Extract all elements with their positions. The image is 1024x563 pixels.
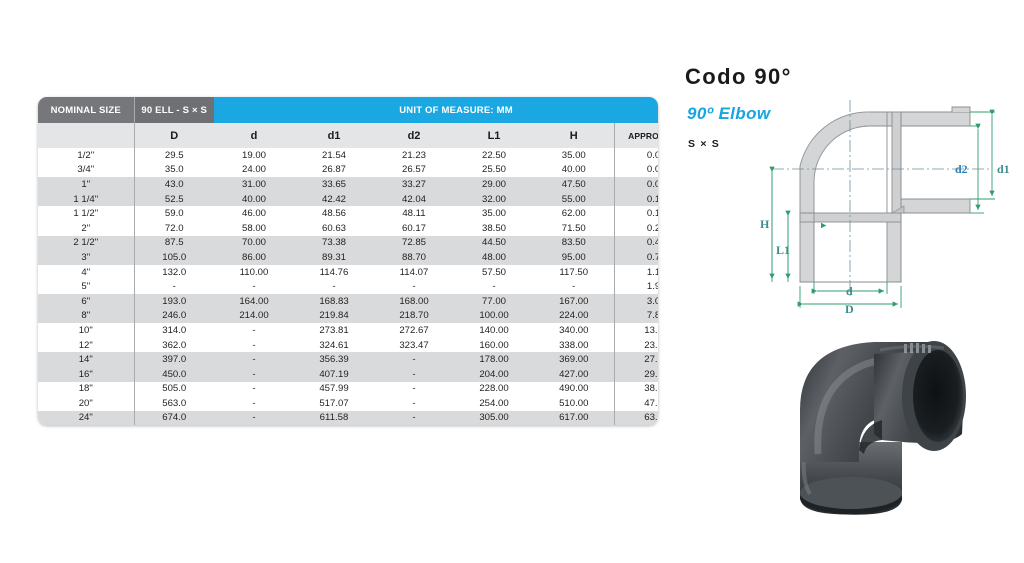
- cell-d2: 21.23: [374, 148, 454, 163]
- cell-wt: 27.00: [614, 352, 658, 367]
- cell-L1: 77.00: [454, 294, 534, 309]
- cell-d2: 272.67: [374, 323, 454, 338]
- cell-wt: 23.00: [614, 338, 658, 353]
- cell-size: 5": [38, 279, 134, 294]
- cell-d: 31.00: [214, 177, 294, 192]
- cell-d: 24.00: [214, 163, 294, 178]
- column-header-L1: L1: [454, 123, 534, 148]
- elbow-body: [800, 96, 970, 282]
- photo-bottom-face: [800, 477, 902, 509]
- column-header-H: H: [534, 123, 614, 148]
- cell-d2: 323.47: [374, 338, 454, 353]
- cell-d2: 48.11: [374, 206, 454, 221]
- cell-d1: 517.07: [294, 396, 374, 411]
- table-row: 14"397.0-356.39-178.00369.0027.00: [38, 352, 658, 367]
- cell-D: 674.0: [134, 411, 214, 426]
- table-row: 16"450.0-407.19-204.00427.0029.00: [38, 367, 658, 382]
- cell-D: 314.0: [134, 323, 214, 338]
- table-row: 20"563.0-517.07-254.00510.0047.00: [38, 396, 658, 411]
- spec-table: NOMINAL SIZE 90 ELL - S × S UNIT OF MEAS…: [38, 97, 658, 425]
- column-header-D: D: [134, 123, 214, 148]
- cell-D: 505.0: [134, 382, 214, 397]
- cell-H: 224.00: [534, 309, 614, 324]
- cell-d2: 33.27: [374, 177, 454, 192]
- cell-size: 1 1/4": [38, 192, 134, 207]
- cell-d2: -: [374, 382, 454, 397]
- cell-H: -: [534, 279, 614, 294]
- cell-H: 35.00: [534, 148, 614, 163]
- cell-d2: -: [374, 411, 454, 426]
- cell-wt: 0.70: [614, 250, 658, 265]
- page-title-spanish: Codo 90°: [685, 64, 792, 90]
- cell-d2: 218.70: [374, 309, 454, 324]
- dimension-label-L1: L1: [776, 243, 790, 257]
- cell-d2: 114.07: [374, 265, 454, 280]
- table-header-band: NOMINAL SIZE 90 ELL - S × S UNIT OF MEAS…: [38, 97, 658, 123]
- cell-size: 6": [38, 294, 134, 309]
- cell-H: 510.00: [534, 396, 614, 411]
- cell-d2: -: [374, 279, 454, 294]
- table-row: 1/2"29.519.0021.5421.2322.5035.000.03: [38, 148, 658, 163]
- table-row: 18"505.0-457.99-228.00490.0038.00: [38, 382, 658, 397]
- cell-H: 490.00: [534, 382, 614, 397]
- cell-D: 563.0: [134, 396, 214, 411]
- cell-d2: -: [374, 367, 454, 382]
- dimension-label-d1: d1: [997, 162, 1010, 176]
- cell-d: 58.00: [214, 221, 294, 236]
- cell-L1: 57.50: [454, 265, 534, 280]
- cell-D: 362.0: [134, 338, 214, 353]
- cell-D: 29.5: [134, 148, 214, 163]
- cell-wt: 29.00: [614, 367, 658, 382]
- cell-size: 14": [38, 352, 134, 367]
- column-header-blank: [38, 123, 134, 148]
- table-row: 5"------1.94: [38, 279, 658, 294]
- technical-drawing: H L1 d D d1 d2: [752, 96, 1014, 324]
- cell-D: 87.5: [134, 236, 214, 251]
- cell-d: 110.00: [214, 265, 294, 280]
- cell-size: 20": [38, 396, 134, 411]
- cell-size: 1": [38, 177, 134, 192]
- cell-H: 369.00: [534, 352, 614, 367]
- cell-wt: 3.03: [614, 294, 658, 309]
- cell-d: -: [214, 279, 294, 294]
- cell-D: 72.0: [134, 221, 214, 236]
- table-column-headers: D d d1 d2 L1 H APPROX. WT.: [38, 123, 658, 148]
- cell-size: 4": [38, 265, 134, 280]
- table-row: 4"132.0110.00114.76114.0757.50117.501.17: [38, 265, 658, 280]
- cell-L1: 25.50: [454, 163, 534, 178]
- cell-d: 86.00: [214, 250, 294, 265]
- cell-d: 214.00: [214, 309, 294, 324]
- cell-d2: 42.04: [374, 192, 454, 207]
- cell-size: 18": [38, 382, 134, 397]
- cell-L1: 178.00: [454, 352, 534, 367]
- header-nominal-size: NOMINAL SIZE: [38, 97, 134, 123]
- cell-d1: 356.39: [294, 352, 374, 367]
- cell-D: 450.0: [134, 367, 214, 382]
- cell-wt: 0.05: [614, 163, 658, 178]
- cell-size: 3/4": [38, 163, 134, 178]
- cell-d: -: [214, 338, 294, 353]
- cell-D: 246.0: [134, 309, 214, 324]
- cell-L1: 29.00: [454, 177, 534, 192]
- specification-table: NOMINAL SIZE 90 ELL - S × S UNIT OF MEAS…: [38, 97, 658, 425]
- cell-wt: 0.03: [614, 148, 658, 163]
- cell-d: -: [214, 411, 294, 426]
- cell-d: -: [214, 367, 294, 382]
- cell-d1: 21.54: [294, 148, 374, 163]
- cell-size: 16": [38, 367, 134, 382]
- cell-d1: 26.87: [294, 163, 374, 178]
- cell-d1: 324.61: [294, 338, 374, 353]
- cell-H: 95.00: [534, 250, 614, 265]
- cell-D: -: [134, 279, 214, 294]
- cell-H: 55.00: [534, 192, 614, 207]
- cell-D: 193.0: [134, 294, 214, 309]
- cell-L1: 100.00: [454, 309, 534, 324]
- cell-size: 3": [38, 250, 134, 265]
- cell-d: -: [214, 352, 294, 367]
- column-header-d2: d2: [374, 123, 454, 148]
- cell-wt: 0.45: [614, 236, 658, 251]
- column-header-d1: d1: [294, 123, 374, 148]
- cell-H: 617.00: [534, 411, 614, 426]
- cell-wt: 0.13: [614, 192, 658, 207]
- table-row: 2"72.058.0060.6360.1738.5071.500.26: [38, 221, 658, 236]
- table-row: 12"362.0-324.61323.47160.00338.0023.00: [38, 338, 658, 353]
- cell-H: 167.00: [534, 294, 614, 309]
- cell-D: 35.0: [134, 163, 214, 178]
- cell-d: 70.00: [214, 236, 294, 251]
- cell-L1: -: [454, 279, 534, 294]
- table-row: 1 1/2"59.046.0048.5648.1135.0062.000.17: [38, 206, 658, 221]
- dimension-label-H: H: [760, 217, 770, 231]
- cell-wt: 0.08: [614, 177, 658, 192]
- dimension-label-d2: d2: [955, 162, 968, 176]
- cell-d1: 89.31: [294, 250, 374, 265]
- cell-H: 47.50: [534, 177, 614, 192]
- cell-wt: 1.94: [614, 279, 658, 294]
- photo-right-bore: [913, 350, 963, 442]
- column-header-approx-wt: APPROX. WT.: [614, 123, 658, 148]
- product-photo: [762, 322, 994, 544]
- cell-size: 10": [38, 323, 134, 338]
- cell-d2: -: [374, 352, 454, 367]
- cell-H: 40.00: [534, 163, 614, 178]
- table-row: 3"105.086.0089.3188.7048.0095.000.70: [38, 250, 658, 265]
- cell-L1: 38.50: [454, 221, 534, 236]
- cell-d: 46.00: [214, 206, 294, 221]
- cell-D: 132.0: [134, 265, 214, 280]
- cell-D: 52.5: [134, 192, 214, 207]
- cell-d1: 114.76: [294, 265, 374, 280]
- cell-d1: 168.83: [294, 294, 374, 309]
- cell-L1: 140.00: [454, 323, 534, 338]
- cell-size: 1/2": [38, 148, 134, 163]
- cell-H: 83.50: [534, 236, 614, 251]
- cell-d: 164.00: [214, 294, 294, 309]
- cell-D: 59.0: [134, 206, 214, 221]
- cell-d1: 33.65: [294, 177, 374, 192]
- cell-L1: 305.00: [454, 411, 534, 426]
- cell-H: 71.50: [534, 221, 614, 236]
- cell-d: -: [214, 396, 294, 411]
- cell-H: 340.00: [534, 323, 614, 338]
- cell-d2: 88.70: [374, 250, 454, 265]
- cell-d1: 457.99: [294, 382, 374, 397]
- cell-d: 40.00: [214, 192, 294, 207]
- cell-D: 397.0: [134, 352, 214, 367]
- cell-d1: 42.42: [294, 192, 374, 207]
- cell-d1: 60.63: [294, 221, 374, 236]
- cell-d1: 219.84: [294, 309, 374, 324]
- cell-L1: 254.00: [454, 396, 534, 411]
- cell-d1: -: [294, 279, 374, 294]
- dimension-label-d: d: [846, 284, 853, 298]
- table-row: 10"314.0-273.81272.67140.00340.0013.00: [38, 323, 658, 338]
- cell-L1: 160.00: [454, 338, 534, 353]
- table-row: 3/4"35.024.0026.8726.5725.5040.000.05: [38, 163, 658, 178]
- cell-d: -: [214, 382, 294, 397]
- table-row: 1"43.031.0033.6533.2729.0047.500.08: [38, 177, 658, 192]
- cell-size: 12": [38, 338, 134, 353]
- cell-wt: 38.00: [614, 382, 658, 397]
- connection-type-label: S × S: [688, 138, 720, 150]
- cell-H: 427.00: [534, 367, 614, 382]
- cell-D: 43.0: [134, 177, 214, 192]
- cell-size: 2 1/2": [38, 236, 134, 251]
- cell-wt: 13.00: [614, 323, 658, 338]
- table-row: 8"246.0214.00219.84218.70100.00224.007.8…: [38, 309, 658, 324]
- cell-d2: 168.00: [374, 294, 454, 309]
- dimension-label-D: D: [845, 302, 854, 316]
- cell-wt: 1.17: [614, 265, 658, 280]
- cell-d2: 60.17: [374, 221, 454, 236]
- table-body: 1/2"29.519.0021.5421.2322.5035.000.033/4…: [38, 148, 658, 425]
- cell-L1: 228.00: [454, 382, 534, 397]
- cell-D: 105.0: [134, 250, 214, 265]
- cell-size: 24": [38, 411, 134, 426]
- header-unit-of-measure: UNIT OF MEASURE: MM: [214, 97, 658, 123]
- cell-H: 62.00: [534, 206, 614, 221]
- cell-L1: 48.00: [454, 250, 534, 265]
- cell-L1: 35.00: [454, 206, 534, 221]
- table-row: 6"193.0164.00168.83168.0077.00167.003.03: [38, 294, 658, 309]
- table-row: 24"674.0-611.58-305.00617.0063.00: [38, 411, 658, 426]
- header-type: 90 ELL - S × S: [134, 97, 214, 123]
- cell-H: 338.00: [534, 338, 614, 353]
- cell-d: 19.00: [214, 148, 294, 163]
- cell-size: 8": [38, 309, 134, 324]
- cell-wt: 47.00: [614, 396, 658, 411]
- cell-L1: 22.50: [454, 148, 534, 163]
- cell-d1: 273.81: [294, 323, 374, 338]
- cell-L1: 204.00: [454, 367, 534, 382]
- cell-d1: 48.56: [294, 206, 374, 221]
- cell-L1: 44.50: [454, 236, 534, 251]
- table-row: 1 1/4"52.540.0042.4242.0432.0055.000.13: [38, 192, 658, 207]
- cell-wt: 0.17: [614, 206, 658, 221]
- cell-wt: 0.26: [614, 221, 658, 236]
- cell-d1: 611.58: [294, 411, 374, 426]
- cell-L1: 32.00: [454, 192, 534, 207]
- cell-H: 117.50: [534, 265, 614, 280]
- cell-size: 1 1/2": [38, 206, 134, 221]
- cell-size: 2": [38, 221, 134, 236]
- column-header-d: d: [214, 123, 294, 148]
- cell-d2: 72.85: [374, 236, 454, 251]
- cell-d2: -: [374, 396, 454, 411]
- cell-d: -: [214, 323, 294, 338]
- cell-wt: 7.80: [614, 309, 658, 324]
- cell-d1: 407.19: [294, 367, 374, 382]
- cell-d1: 73.38: [294, 236, 374, 251]
- cell-d2: 26.57: [374, 163, 454, 178]
- table-row: 2 1/2"87.570.0073.3872.8544.5083.500.45: [38, 236, 658, 251]
- cell-wt: 63.00: [614, 411, 658, 426]
